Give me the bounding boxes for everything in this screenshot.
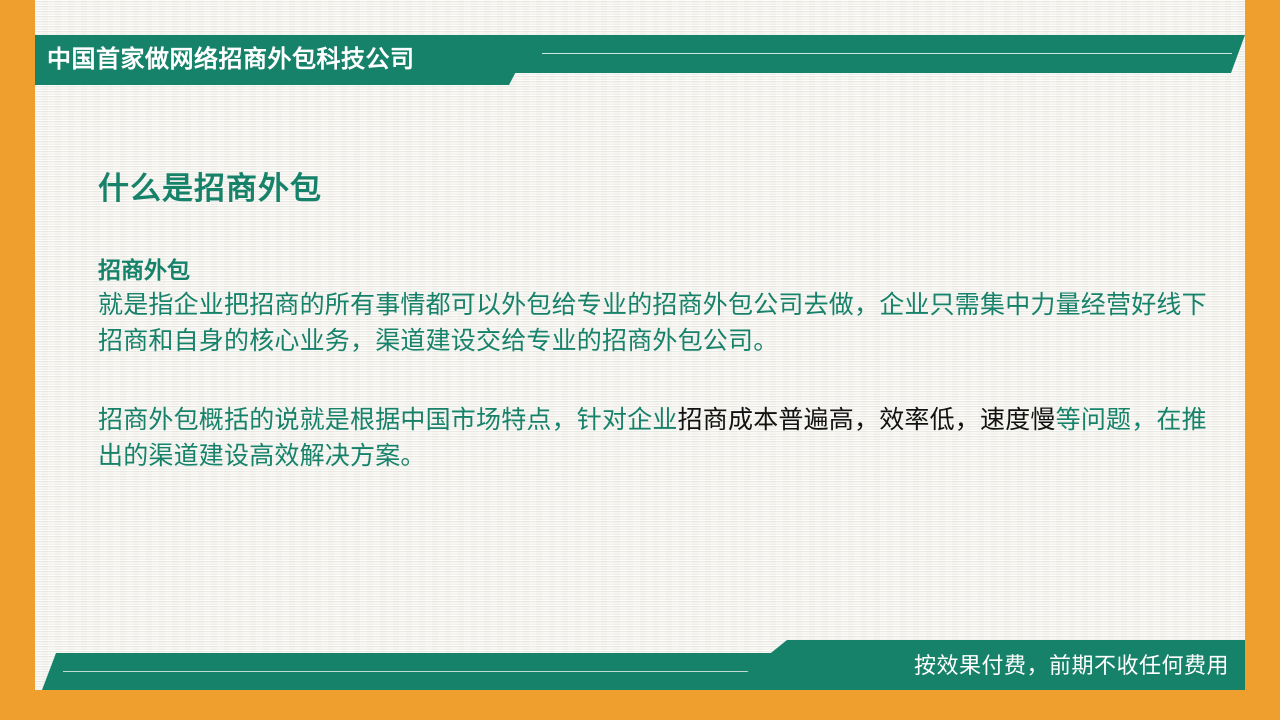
paragraph-definition: 就是指企业把招商的所有事情都可以外包给专业的招商外包公司去做，企业只需集中力量经… bbox=[98, 288, 1223, 359]
page-title: 什么是招商外包 bbox=[98, 170, 1223, 207]
slide: 中国首家做网络招商外包科技公司 什么是招商外包 招商外包 就是指企业把招商的所有… bbox=[0, 0, 1280, 720]
header-band: 中国首家做网络招商外包科技公司 bbox=[35, 35, 1245, 85]
footer-tagline: 按效果付费，前期不收任何费用 bbox=[914, 640, 1229, 690]
section-subtitle: 招商外包 bbox=[98, 255, 1223, 286]
header-hairline-rule bbox=[542, 53, 1232, 54]
paragraph-summary-highlight: 招商成本普遍高，效率低，速度慢 bbox=[678, 406, 1056, 434]
paragraph-summary: 招商外包概括的说就是根据中国市场特点，针对企业招商成本普遍高，效率低，速度慢等问… bbox=[98, 403, 1223, 474]
header-title: 中国首家做网络招商外包科技公司 bbox=[47, 35, 415, 85]
footer-tagline-block: 按效果付费，前期不收任何费用 bbox=[725, 640, 1245, 690]
footer-hairline-rule bbox=[63, 671, 773, 672]
main-content: 什么是招商外包 招商外包 就是指企业把招商的所有事情都可以外包给专业的招商外包公… bbox=[98, 170, 1223, 474]
paragraph-summary-lead: 招商外包概括的说就是根据中国市场特点，针对企业 bbox=[98, 406, 678, 434]
header-title-block: 中国首家做网络招商外包科技公司 bbox=[35, 35, 535, 85]
footer-band: 按效果付费，前期不收任何费用 bbox=[35, 640, 1245, 690]
